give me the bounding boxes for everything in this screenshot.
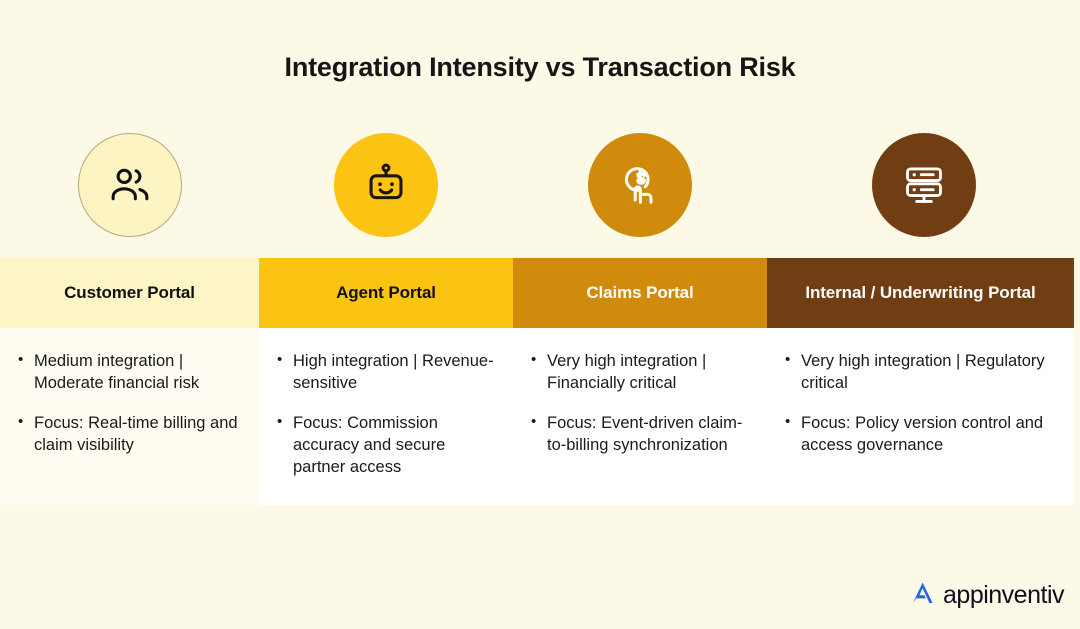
list-item: High integration | Revenue-sensitive bbox=[273, 350, 495, 394]
money-click-icon bbox=[616, 161, 664, 209]
column-header-agent-portal: Agent Portal bbox=[259, 258, 513, 328]
column-body-customer-portal: Medium integration | Moderate financial … bbox=[0, 328, 259, 505]
page-title: Integration Intensity vs Transaction Ris… bbox=[0, 52, 1080, 83]
robot-icon bbox=[363, 162, 409, 208]
bullet-list: High integration | Revenue-sensitive Foc… bbox=[273, 350, 495, 478]
list-item: Very high integration | Financially crit… bbox=[527, 350, 749, 394]
table-body-row: Medium integration | Moderate financial … bbox=[0, 328, 1074, 505]
list-item: Focus: Event-driven claim-to-billing syn… bbox=[527, 412, 749, 456]
icon-cell-internal-portal bbox=[767, 132, 1080, 238]
list-item: Medium integration | Moderate financial … bbox=[14, 350, 241, 394]
list-item: Focus: Policy version control and access… bbox=[781, 412, 1056, 456]
column-header-internal-portal: Internal / Underwriting Portal bbox=[767, 258, 1074, 328]
bullet-list: Very high integration | Regulatory criti… bbox=[781, 350, 1056, 456]
brand-logo: appinventiv bbox=[908, 578, 1064, 613]
column-header-customer-portal: Customer Portal bbox=[0, 258, 259, 328]
icon-cell-customer-portal bbox=[0, 132, 259, 238]
icon-circle-customer-portal bbox=[78, 133, 182, 237]
appinventiv-a-mark-icon bbox=[908, 578, 938, 613]
server-rack-icon bbox=[901, 162, 947, 208]
icon-cell-agent-portal bbox=[259, 132, 513, 238]
column-body-agent-portal: High integration | Revenue-sensitive Foc… bbox=[259, 328, 513, 505]
column-header-claims-portal: Claims Portal bbox=[513, 258, 767, 328]
icon-circle-claims-portal bbox=[588, 133, 692, 237]
icon-circle-internal-portal bbox=[872, 133, 976, 237]
comparison-table: Customer Portal Agent Portal Claims Port… bbox=[0, 258, 1074, 505]
icon-row bbox=[0, 132, 1080, 238]
icon-circle-agent-portal bbox=[334, 133, 438, 237]
bullet-list: Very high integration | Financially crit… bbox=[527, 350, 749, 456]
logo-wordmark: appinventiv bbox=[943, 581, 1064, 610]
list-item: Focus: Real-time billing and claim visib… bbox=[14, 412, 241, 456]
icon-cell-claims-portal bbox=[513, 132, 767, 238]
column-body-claims-portal: Very high integration | Financially crit… bbox=[513, 328, 767, 505]
table-header-row: Customer Portal Agent Portal Claims Port… bbox=[0, 258, 1074, 328]
column-body-internal-portal: Very high integration | Regulatory criti… bbox=[767, 328, 1074, 505]
bullet-list: Medium integration | Moderate financial … bbox=[14, 350, 241, 456]
list-item: Focus: Commission accuracy and secure pa… bbox=[273, 412, 495, 478]
list-item: Very high integration | Regulatory criti… bbox=[781, 350, 1056, 394]
users-icon bbox=[107, 162, 153, 208]
